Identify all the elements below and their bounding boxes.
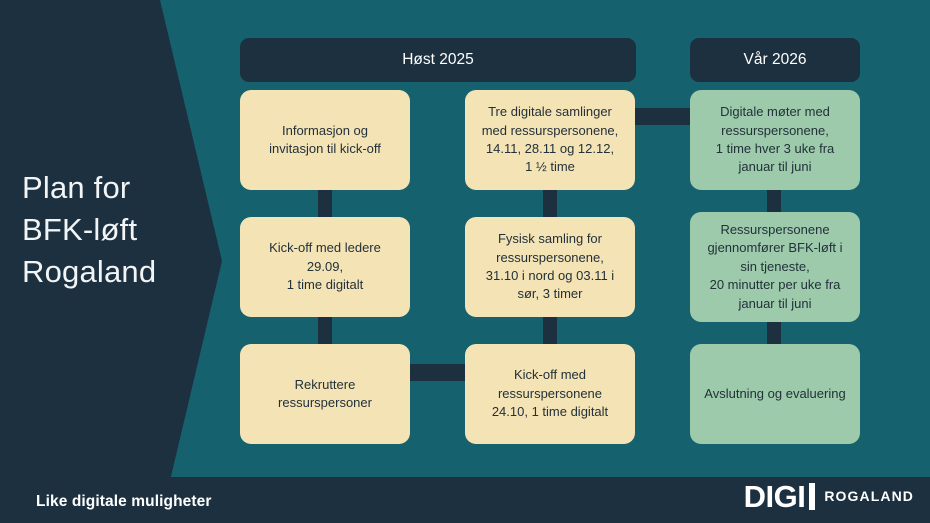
card-kickoff-ledere[interactable]: Kick-off med ledere 29.09, 1 time digita… — [240, 217, 410, 317]
card-gjennomfoerer[interactable]: Ressurspersonene gjennomfører BFK-løft i… — [690, 212, 860, 322]
digi-rogaland-logo: DIGI ROGALAND — [744, 481, 914, 512]
card-fysisk-samling[interactable]: Fysisk samling for ressurspersonene, 31.… — [465, 217, 635, 317]
page-title: Plan for BFK-løft Rogaland — [22, 167, 212, 293]
logo-divider-bar — [809, 483, 815, 510]
card-tre-digitale-samlinger[interactable]: Tre digitale samlinger med ressursperson… — [465, 90, 635, 190]
logo-rogaland-text: ROGALAND — [824, 489, 914, 504]
logo-digi-text: DIGI — [744, 481, 806, 512]
card-informasjon[interactable]: Informasjon og invitasjon til kick-off — [240, 90, 410, 190]
slide-canvas: Plan for BFK-løft Rogaland Høst 2025 Vår… — [0, 0, 930, 523]
header-vaar-2026: Vår 2026 — [690, 38, 860, 82]
footer-tagline: Like digitale muligheter — [36, 493, 212, 511]
header-hoest-2025-label: Høst 2025 — [402, 51, 474, 69]
card-avslutning[interactable]: Avslutning og evaluering — [690, 344, 860, 444]
card-digitale-moeter[interactable]: Digitale møter med ressurspersonene, 1 t… — [690, 90, 860, 190]
card-kickoff-ressurspersonene[interactable]: Kick-off med ressurspersonene 24.10, 1 t… — [465, 344, 635, 444]
header-hoest-2025: Høst 2025 — [240, 38, 636, 82]
card-rekruttere[interactable]: Rekruttere ressurspersoner — [240, 344, 410, 444]
header-vaar-2026-label: Vår 2026 — [744, 51, 807, 69]
